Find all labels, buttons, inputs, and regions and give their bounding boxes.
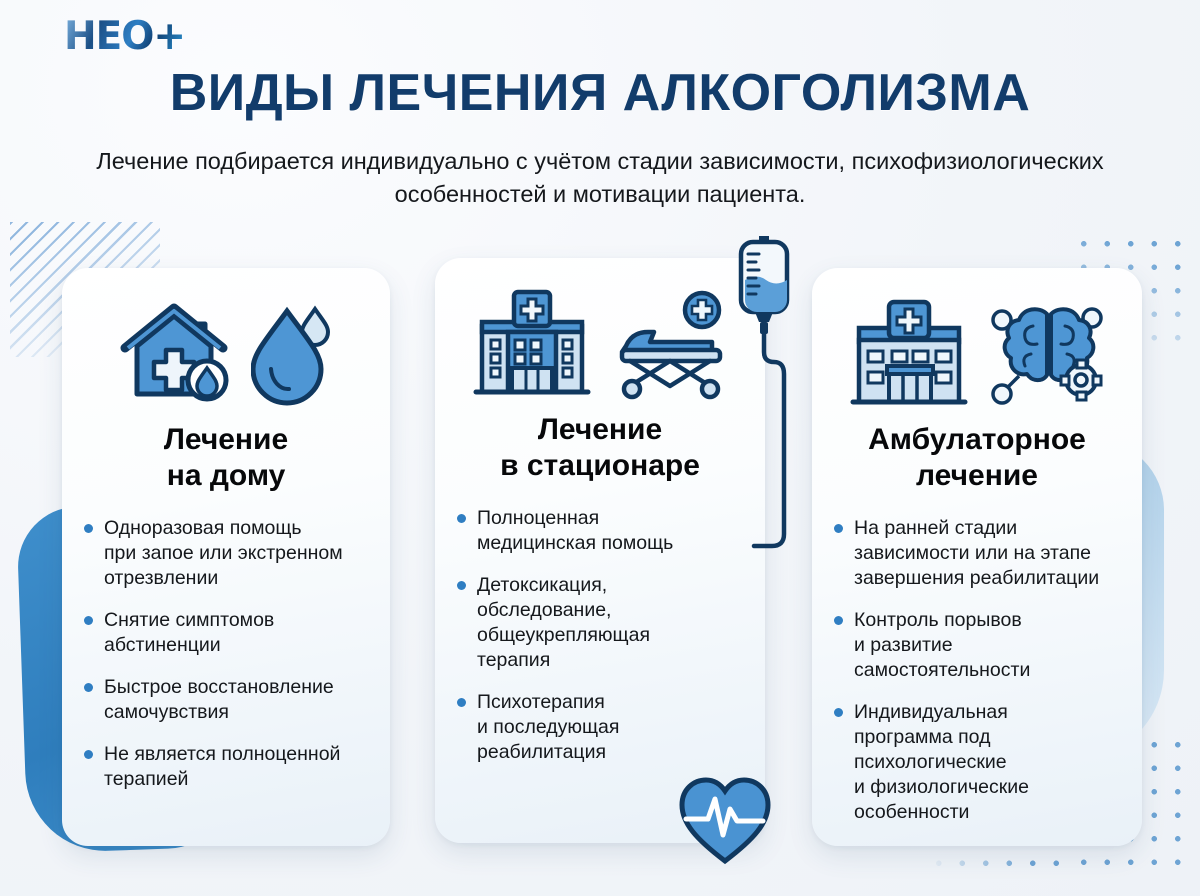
bullet-text: Детоксикация, обследование, общеукрепляю… [477, 573, 650, 673]
card1-bullet-list: Одноразовая помощь при запое или экстрен… [84, 516, 372, 792]
bullet-text: Полноценная медицинская помощь [477, 506, 673, 556]
bullet-dot-icon [834, 616, 843, 625]
card2-bullet-list: Полноценная медицинская помощь Детоксика… [457, 506, 747, 765]
card3-title: Амбулаторное лечение [812, 422, 1142, 494]
hospital-building-icon [468, 288, 596, 405]
list-item: Снятие симптомов абстиненции [84, 608, 372, 658]
bullet-dot-icon [457, 581, 466, 590]
home-medical-icon [115, 298, 233, 415]
bullet-text: Психотерапия и последующая реабилитация [477, 690, 619, 765]
bullet-dot-icon [84, 524, 93, 533]
infographic-canvas: НЕО+ ВИДЫ ЛЕЧЕНИЯ АЛКОГОЛИЗМА Лечение по… [0, 0, 1200, 896]
brain-gear-icon [991, 298, 1109, 415]
bullet-text: Не является полноценной терапией [104, 742, 340, 792]
bullet-text: Быстрое восстановление самочувствия [104, 675, 334, 725]
brand-logo: НЕО+ [64, 14, 185, 59]
card-outpatient-treatment[interactable]: Амбулаторное лечение На ранней стадии за… [812, 268, 1142, 846]
bullet-dot-icon [84, 616, 93, 625]
iv-drip-icon [733, 228, 795, 563]
card-inpatient-treatment[interactable]: Лечение в стационаре Полноценная медицин… [435, 258, 765, 843]
bullet-dot-icon [84, 683, 93, 692]
card2-icon-row [435, 258, 765, 408]
card1-icon-row [62, 268, 390, 418]
clinic-building-icon [845, 298, 973, 415]
page-subtitle: Лечение подбирается индивидуально с учёт… [90, 145, 1110, 211]
card2-title: Лечение в стационаре [435, 412, 765, 484]
page-title: ВИДЫ ЛЕЧЕНИЯ АЛКОГОЛИЗМА [0, 63, 1200, 123]
list-item: Индивидуальная программа под психологиче… [834, 700, 1124, 825]
list-item: Не является полноценной терапией [84, 742, 372, 792]
list-item: Контроль порывов и развитие самостоятель… [834, 608, 1124, 683]
hospital-gurney-icon [614, 288, 732, 405]
bullet-text: Снятие симптомов абстиненции [104, 608, 274, 658]
card-home-treatment[interactable]: Лечение на дому Одноразовая помощь при з… [62, 268, 390, 846]
bullet-dot-icon [457, 514, 466, 523]
heart-pulse-icon [676, 775, 774, 872]
water-drop-icon [251, 301, 337, 412]
list-item: Полноценная медицинская помощь [457, 506, 747, 556]
bullet-dot-icon [834, 708, 843, 717]
list-item: Одноразовая помощь при запое или экстрен… [84, 516, 372, 591]
bullet-text: Контроль порывов и развитие самостоятель… [854, 608, 1030, 683]
bullet-text: На ранней стадии зависимости или на этап… [854, 516, 1099, 591]
card3-icon-row [812, 268, 1142, 418]
list-item: Быстрое восстановление самочувствия [84, 675, 372, 725]
bullet-dot-icon [457, 698, 466, 707]
list-item: Психотерапия и последующая реабилитация [457, 690, 747, 765]
card3-bullet-list: На ранней стадии зависимости или на этап… [834, 516, 1124, 825]
bullet-dot-icon [84, 750, 93, 759]
list-item: На ранней стадии зависимости или на этап… [834, 516, 1124, 591]
card1-title: Лечение на дому [62, 422, 390, 494]
bullet-text: Одноразовая помощь при запое или экстрен… [104, 516, 343, 591]
bullet-dot-icon [834, 524, 843, 533]
list-item: Детоксикация, обследование, общеукрепляю… [457, 573, 747, 673]
bullet-text: Индивидуальная программа под психологиче… [854, 700, 1029, 825]
